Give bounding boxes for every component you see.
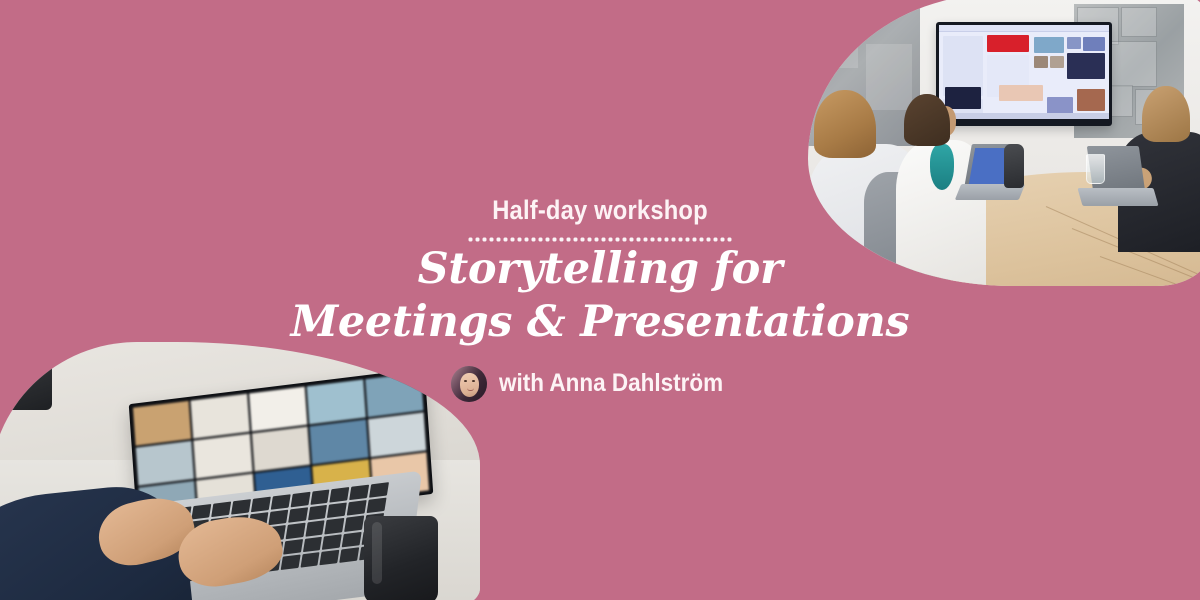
coffee-mug: [364, 516, 438, 600]
page-title-line-2: Meetings & Presentations: [0, 301, 1200, 344]
person-middle-scarf: [930, 144, 954, 190]
eyebrow-label: Half-day workshop: [72, 196, 1128, 225]
banner-text-block: Half-day workshop Storytelling for Meeti…: [0, 196, 1200, 402]
dotted-divider: [467, 237, 733, 242]
page-title-line-1: Storytelling for: [0, 248, 1200, 291]
conference-speaker: [1004, 144, 1024, 188]
person-left-head: [814, 90, 876, 158]
water-glass: [1086, 154, 1105, 184]
event-banner: Half-day workshop Storytelling for Meeti…: [0, 0, 1200, 600]
wall-mounted-tv: [936, 22, 1112, 126]
person-right-head: [1142, 86, 1190, 142]
tv-screen-content: [939, 25, 1109, 119]
avatar: [451, 366, 487, 402]
person-middle-head: [904, 94, 950, 146]
presenter-name: with Anna Dahlström: [499, 370, 723, 398]
presenter-row: with Anna Dahlström: [0, 366, 1200, 402]
